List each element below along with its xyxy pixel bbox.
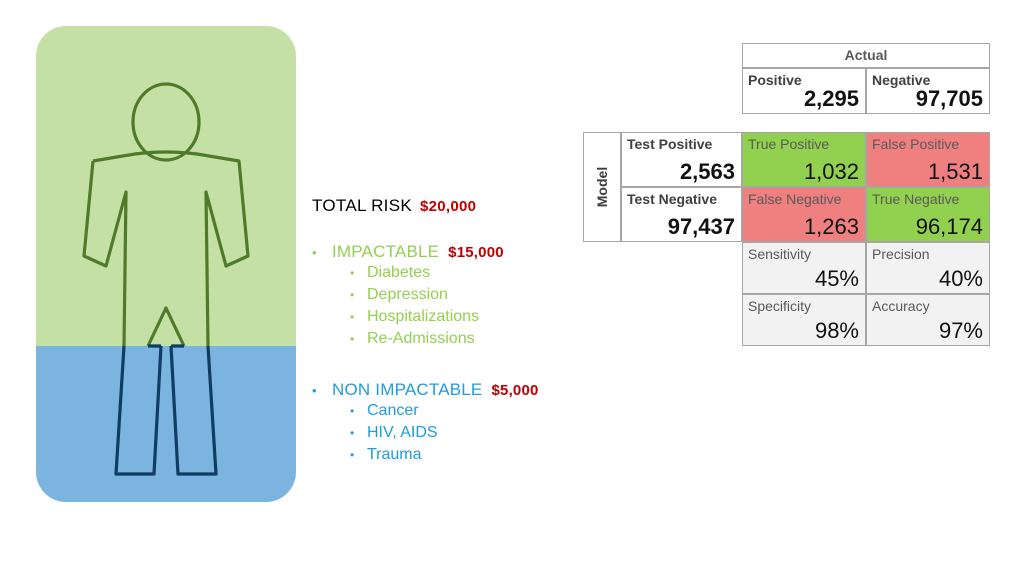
accuracy-cell: Accuracy 97% [866, 294, 990, 346]
accuracy-value: 97% [939, 318, 983, 344]
false-negative-value: 1,263 [804, 214, 859, 240]
precision-cell: Precision 40% [866, 242, 990, 294]
confusion-matrix: Model Actual Positive 2,295 Negative 97,… [583, 43, 990, 368]
list-item: • Cancer [312, 400, 592, 422]
true-positive-value: 1,032 [804, 159, 859, 185]
actual-positive-label: Positive [748, 72, 802, 88]
bullet-icon: • [312, 246, 332, 259]
list-item-label: Trauma [367, 444, 422, 466]
test-positive-value: 2,563 [680, 159, 735, 185]
bullet-icon: • [350, 289, 367, 301]
impactable-group: • IMPACTABLE $15,000 • Diabetes • Depres… [312, 242, 592, 350]
list-item: • Re-Admissions [312, 328, 592, 350]
person-icon [36, 26, 296, 502]
false-positive-value: 1,531 [928, 159, 983, 185]
risk-breakdown: TOTAL RISK$20,000 • IMPACTABLE $15,000 •… [312, 196, 592, 485]
false-positive-cell: False Positive 1,531 [866, 132, 990, 187]
sensitivity-label: Sensitivity [748, 246, 811, 262]
list-item: • Hospitalizations [312, 306, 592, 328]
bullet-icon: • [350, 311, 367, 323]
actual-axis-header: Actual [742, 43, 990, 68]
list-item: • Depression [312, 284, 592, 306]
list-item: • Diabetes [312, 262, 592, 284]
specificity-cell: Specificity 98% [742, 294, 866, 346]
model-axis-label: Model [594, 167, 610, 207]
impactable-heading: • IMPACTABLE $15,000 [312, 242, 592, 262]
actual-positive-header: Positive 2,295 [742, 68, 866, 114]
actual-negative-value: 97,705 [916, 86, 983, 112]
test-negative-label: Test Negative [627, 191, 717, 207]
total-risk-amount: $20,000 [420, 198, 476, 215]
list-item-label: Diabetes [367, 262, 430, 284]
list-item-label: Cancer [367, 400, 419, 422]
list-item-label: Depression [367, 284, 448, 306]
bullet-icon: • [350, 267, 367, 279]
non-impactable-heading: • NON IMPACTABLE $5,000 [312, 380, 592, 400]
true-negative-value: 96,174 [916, 214, 983, 240]
test-negative-header: Test Negative 97,437 [621, 187, 742, 242]
list-item: • HIV, AIDS [312, 422, 592, 444]
precision-label: Precision [872, 246, 930, 262]
non-impactable-amount: $5,000 [491, 382, 538, 399]
accuracy-label: Accuracy [872, 298, 930, 314]
specificity-label: Specificity [748, 298, 811, 314]
patient-risk-figure [36, 26, 296, 502]
sensitivity-cell: Sensitivity 45% [742, 242, 866, 294]
bullet-icon: • [312, 384, 332, 397]
impactable-amount: $15,000 [448, 244, 504, 261]
actual-negative-header: Negative 97,705 [866, 68, 990, 114]
list-item-label: HIV, AIDS [367, 422, 438, 444]
false-negative-label: False Negative [748, 191, 841, 207]
true-negative-label: True Negative [872, 191, 959, 207]
false-negative-cell: False Negative 1,263 [742, 187, 866, 242]
bullet-icon: • [350, 427, 367, 439]
total-risk-line: TOTAL RISK$20,000 [312, 196, 592, 216]
non-impactable-group: • NON IMPACTABLE $5,000 • Cancer • HIV, … [312, 380, 592, 466]
bullet-icon: • [350, 333, 367, 345]
test-negative-value: 97,437 [668, 214, 735, 240]
test-positive-header: Test Positive 2,563 [621, 132, 742, 187]
total-risk-label: TOTAL RISK [312, 196, 412, 215]
bullet-icon: • [350, 449, 367, 461]
specificity-value: 98% [815, 318, 859, 344]
false-positive-label: False Positive [872, 136, 959, 152]
actual-axis-label: Actual [743, 47, 989, 63]
list-item-label: Re-Admissions [367, 328, 475, 350]
true-positive-cell: True Positive 1,032 [742, 132, 866, 187]
precision-value: 40% [939, 266, 983, 292]
true-positive-label: True Positive [748, 136, 829, 152]
sensitivity-value: 45% [815, 266, 859, 292]
test-positive-label: Test Positive [627, 136, 712, 152]
actual-positive-value: 2,295 [804, 86, 859, 112]
non-impactable-label: NON IMPACTABLE [332, 380, 482, 400]
impactable-label: IMPACTABLE [332, 242, 439, 262]
bullet-icon: • [350, 405, 367, 417]
true-negative-cell: True Negative 96,174 [866, 187, 990, 242]
model-axis-header: Model [583, 132, 621, 242]
list-item-label: Hospitalizations [367, 306, 479, 328]
list-item: • Trauma [312, 444, 592, 466]
